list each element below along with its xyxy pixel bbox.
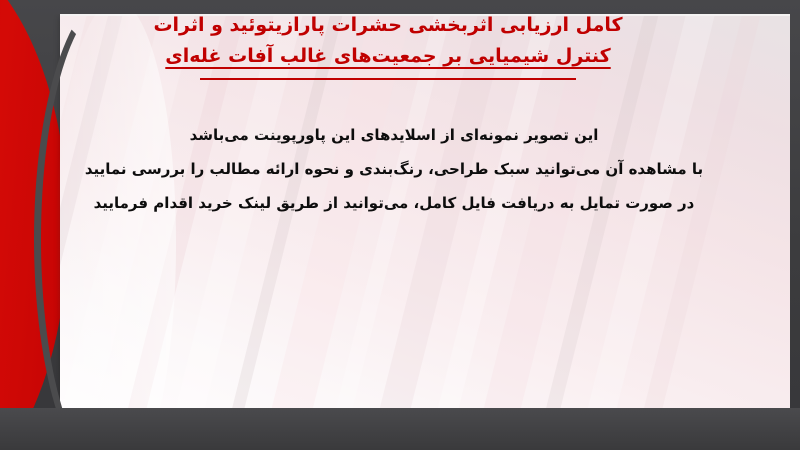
slide-body-text: این تصویر نمونه‌ای از اسلایدهای این پاور…: [28, 118, 760, 220]
bottom-dark-band: [0, 408, 800, 450]
slide-title: کامل ارزیابی اثربخشی حشرات پارازیتوئید و…: [0, 10, 776, 80]
slide-canvas: کامل ارزیابی اثربخشی حشرات پارازیتوئید و…: [0, 0, 800, 450]
title-line-2: کنترل شیمیایی بر جمعیت‌های غالب آفات غله…: [0, 41, 776, 72]
title-underline-rule: [200, 78, 576, 80]
title-line-1: کامل ارزیابی اثربخشی حشرات پارازیتوئید و…: [0, 10, 776, 41]
body-line-3: در صورت تمایل به دریافت فایل کامل، می‌تو…: [28, 186, 760, 220]
body-line-2: با مشاهده آن می‌توانید سبک طراحی، رنگ‌بن…: [28, 152, 760, 186]
body-line-1: این تصویر نمونه‌ای از اسلایدهای این پاور…: [28, 118, 760, 152]
